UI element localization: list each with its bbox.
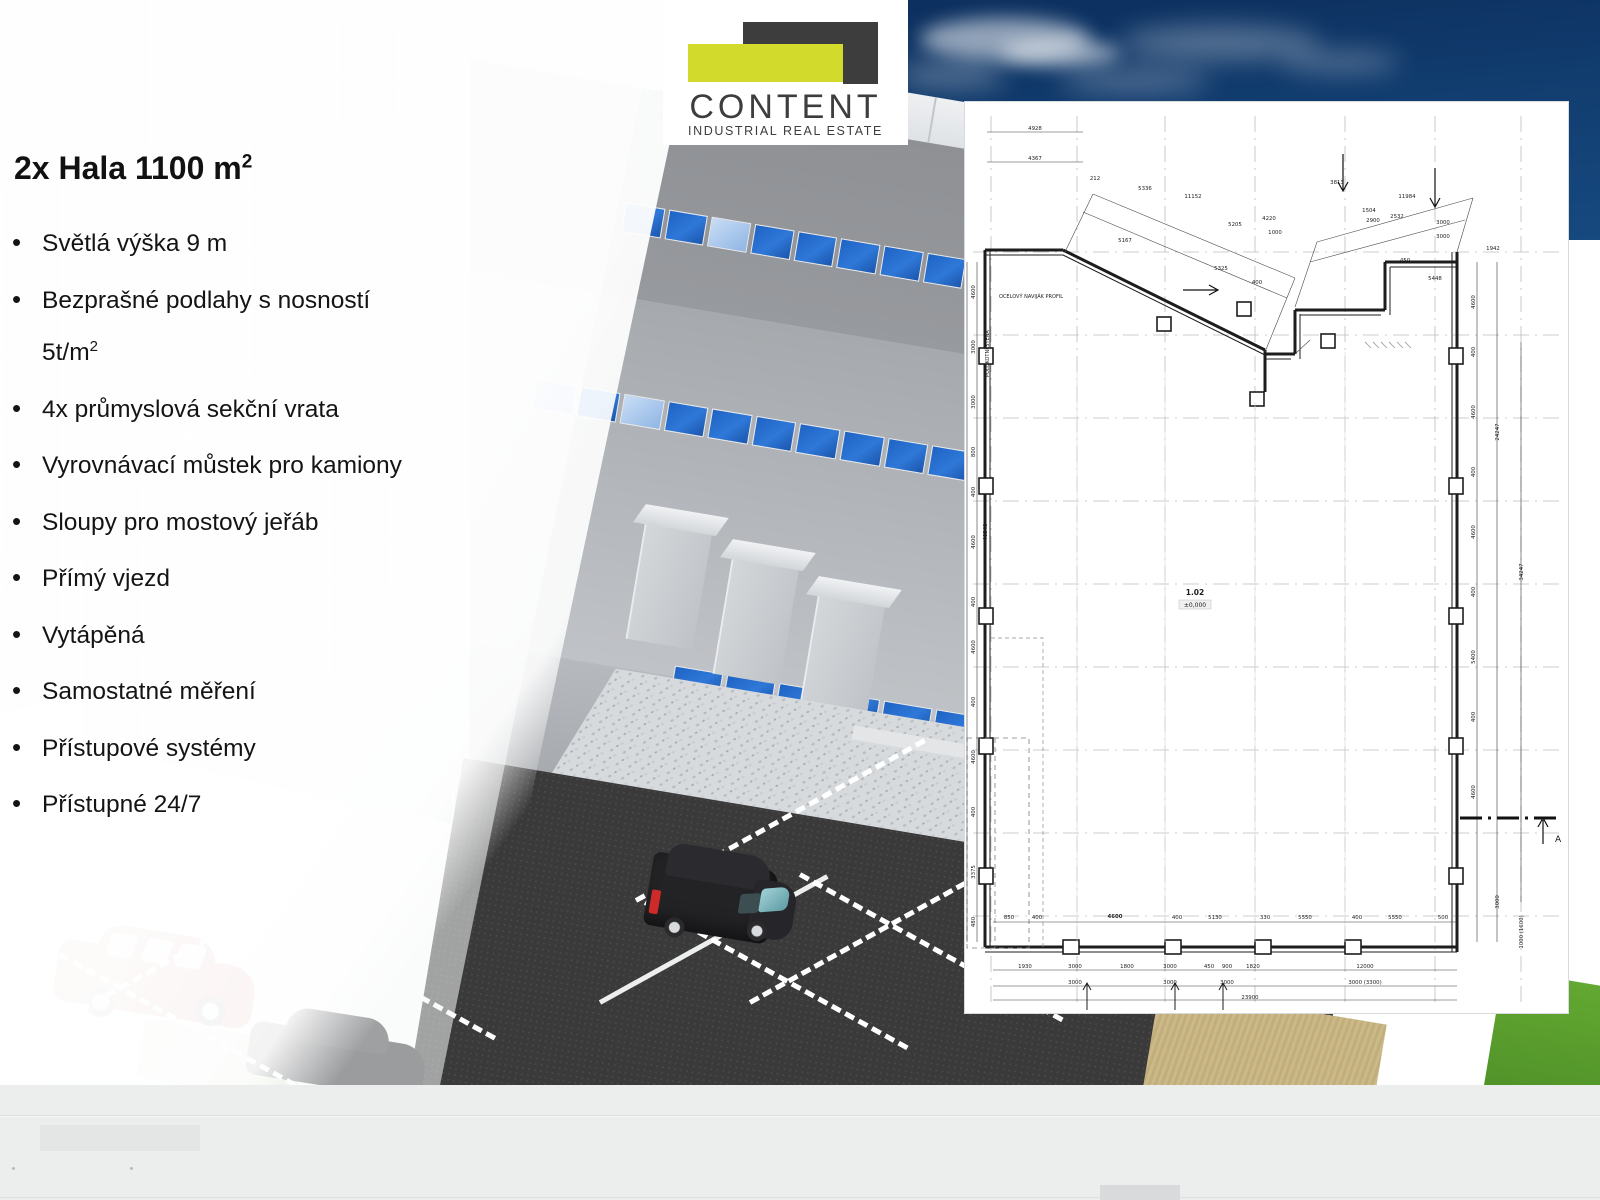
svg-text:400: 400 xyxy=(1172,915,1183,921)
svg-text:11984: 11984 xyxy=(1398,194,1416,200)
list-item: Přístupné 24/7 xyxy=(4,793,524,818)
app-bottom-bar xyxy=(0,1085,1600,1200)
room-elevation: ±0,000 xyxy=(1184,602,1206,609)
svg-text:4600: 4600 xyxy=(971,535,977,549)
svg-text:3000: 3000 xyxy=(971,340,977,354)
svg-text:5400: 5400 xyxy=(1471,650,1477,664)
svg-text:400: 400 xyxy=(1352,915,1363,921)
svg-text:400: 400 xyxy=(971,596,977,607)
svg-text:400: 400 xyxy=(971,486,977,497)
svg-text:3000: 3000 xyxy=(1068,980,1082,986)
svg-text:3813: 3813 xyxy=(1330,180,1344,186)
svg-text:400: 400 xyxy=(1252,280,1263,286)
svg-text:2900: 2900 xyxy=(1366,218,1380,224)
list-item-label: Přímý vjezd xyxy=(42,565,170,592)
svg-text:5448: 5448 xyxy=(1428,276,1442,282)
svg-text:4600: 4600 xyxy=(971,285,977,299)
svg-text:3000: 3000 xyxy=(1436,220,1450,226)
svg-text:4600: 4600 xyxy=(1471,785,1477,799)
floor-plan-drawing: 850400 4600400 5130330 5550400 5550500 1… xyxy=(965,102,1568,1013)
room-number: 1.02 xyxy=(1186,588,1205,597)
svg-text:1800: 1800 xyxy=(1120,964,1134,970)
logo-wordmark: CONTENT xyxy=(663,88,908,127)
svg-text:400: 400 xyxy=(1032,915,1043,921)
svg-text:4220: 4220 xyxy=(1262,216,1276,222)
logo-mark-icon xyxy=(688,22,878,84)
placeholder-field[interactable] xyxy=(40,1125,200,1151)
svg-text:4367: 4367 xyxy=(1028,156,1042,162)
page-title-superscript: 2 xyxy=(242,151,253,172)
list-item-label: 4x průmyslová sekční vrata xyxy=(42,396,339,423)
svg-text:5550: 5550 xyxy=(1298,915,1312,921)
list-item-continuation: 5t/m2 xyxy=(42,339,524,366)
svg-text:1504: 1504 xyxy=(1362,208,1376,214)
svg-text:850: 850 xyxy=(1004,915,1015,921)
list-item: Samostatné měření xyxy=(4,680,524,705)
svg-text:400: 400 xyxy=(1471,586,1477,597)
list-item: Vyrovnávací můstek pro kamiony xyxy=(4,454,524,479)
list-item: Světlá výška 9 m xyxy=(4,232,524,257)
svg-text:480: 480 xyxy=(971,916,977,927)
list-item-label: Vyrovnávací můstek pro kamiony xyxy=(42,452,402,479)
page-title: 2x Hala 1100 m2 xyxy=(14,150,252,187)
svg-text:500: 500 xyxy=(1438,915,1449,921)
svg-text:3000: 3000 xyxy=(1068,964,1082,970)
list-item-label: Přístupné 24/7 xyxy=(42,791,201,818)
logo-tagline: INDUSTRIAL REAL ESTATE xyxy=(663,124,908,138)
svg-text:3000: 3000 xyxy=(1436,234,1450,240)
presentation-slide: 2x Hala 1100 m2 Světlá výška 9 m Bezpraš… xyxy=(0,0,1600,1085)
svg-text:5550: 5550 xyxy=(1388,915,1402,921)
svg-text:12000: 12000 xyxy=(1356,964,1374,970)
svg-text:4600: 4600 xyxy=(971,640,977,654)
annotation-steel-profile: OCELOVÝ NAVIJÁK PROFIL xyxy=(999,293,1063,300)
svg-text:4928: 4928 xyxy=(1028,126,1042,132)
svg-text:5167: 5167 xyxy=(1118,238,1132,244)
overall-width-dim: 23900 xyxy=(1241,995,1259,1001)
svg-text:1930: 1930 xyxy=(1018,964,1032,970)
svg-text:212: 212 xyxy=(1090,176,1100,182)
svg-text:450: 450 xyxy=(1400,258,1411,264)
svg-text:450: 450 xyxy=(1204,964,1215,970)
list-item-label: Bezprašné podlahy s nosností xyxy=(42,287,370,314)
list-item-label: Světlá výška 9 m xyxy=(42,230,227,257)
svg-text:5130: 5130 xyxy=(1208,915,1222,921)
inner-height-dim: 24247 xyxy=(1495,423,1501,440)
svg-text:3000 (3300): 3000 (3300) xyxy=(1348,980,1381,986)
svg-text:1942: 1942 xyxy=(1486,246,1500,252)
feature-list: Světlá výška 9 m Bezprašné podlahy s nos… xyxy=(4,232,524,850)
svg-text:1000: 1000 xyxy=(1268,230,1282,236)
svg-text:400: 400 xyxy=(1471,711,1477,722)
svg-text:1000 (1600): 1000 (1600) xyxy=(1519,915,1525,948)
page-title-text: 2x Hala 1100 m xyxy=(14,150,242,186)
svg-text:3375: 3375 xyxy=(971,865,977,879)
company-logo: CONTENT INDUSTRIAL REAL ESTATE xyxy=(663,0,908,145)
svg-text:11152: 11152 xyxy=(1184,194,1201,200)
list-item-label: Sloupy pro mostový jeřáb xyxy=(42,509,318,536)
list-item: Vytápěná xyxy=(4,624,524,649)
svg-text:800: 800 xyxy=(971,446,977,457)
svg-text:330: 330 xyxy=(1260,915,1271,921)
svg-text:4600: 4600 xyxy=(1471,405,1477,419)
svg-text:5336: 5336 xyxy=(1138,186,1152,192)
svg-text:4600: 4600 xyxy=(1471,295,1477,309)
svg-text:40340: 40340 xyxy=(983,523,989,541)
svg-text:3000: 3000 xyxy=(1495,895,1501,909)
tray-button[interactable] xyxy=(1100,1185,1180,1200)
svg-text:400: 400 xyxy=(971,806,977,817)
svg-text:400: 400 xyxy=(1471,466,1477,477)
list-item: Přímý vjezd xyxy=(4,567,524,592)
svg-text:400: 400 xyxy=(971,696,977,707)
list-item-label: Samostatné měření xyxy=(42,678,256,705)
svg-text:400: 400 xyxy=(1471,346,1477,357)
list-item: Přístupové systémy xyxy=(4,737,524,762)
svg-text:900: 900 xyxy=(1222,964,1233,970)
svg-text:5205: 5205 xyxy=(1228,222,1242,228)
list-item-label: Přístupové systémy xyxy=(42,735,256,762)
svg-text:1820: 1820 xyxy=(1246,964,1260,970)
svg-text:4600: 4600 xyxy=(1107,914,1122,920)
svg-text:3000: 3000 xyxy=(1163,964,1177,970)
list-item: 4x průmyslová sekční vrata xyxy=(4,398,524,423)
svg-text:3000: 3000 xyxy=(971,395,977,409)
list-item-label: Vytápěná xyxy=(42,622,145,649)
svg-text:A: A xyxy=(1555,835,1562,845)
svg-text:5325: 5325 xyxy=(1214,266,1228,272)
svg-text:POLOKOTNÍ STĚNA: POLOKOTNÍ STĚNA xyxy=(983,330,991,377)
svg-text:2532: 2532 xyxy=(1390,214,1404,220)
svg-text:4600: 4600 xyxy=(1471,525,1477,539)
list-item: Bezprašné podlahy s nosností5t/m2 xyxy=(4,289,524,366)
outer-height-dim: 34247 xyxy=(1519,563,1525,580)
list-item: Sloupy pro mostový jeřáb xyxy=(4,511,524,536)
floor-plan-svg: 850400 4600400 5130330 5550400 5550500 1… xyxy=(965,102,1568,1013)
svg-text:4600: 4600 xyxy=(971,750,977,764)
